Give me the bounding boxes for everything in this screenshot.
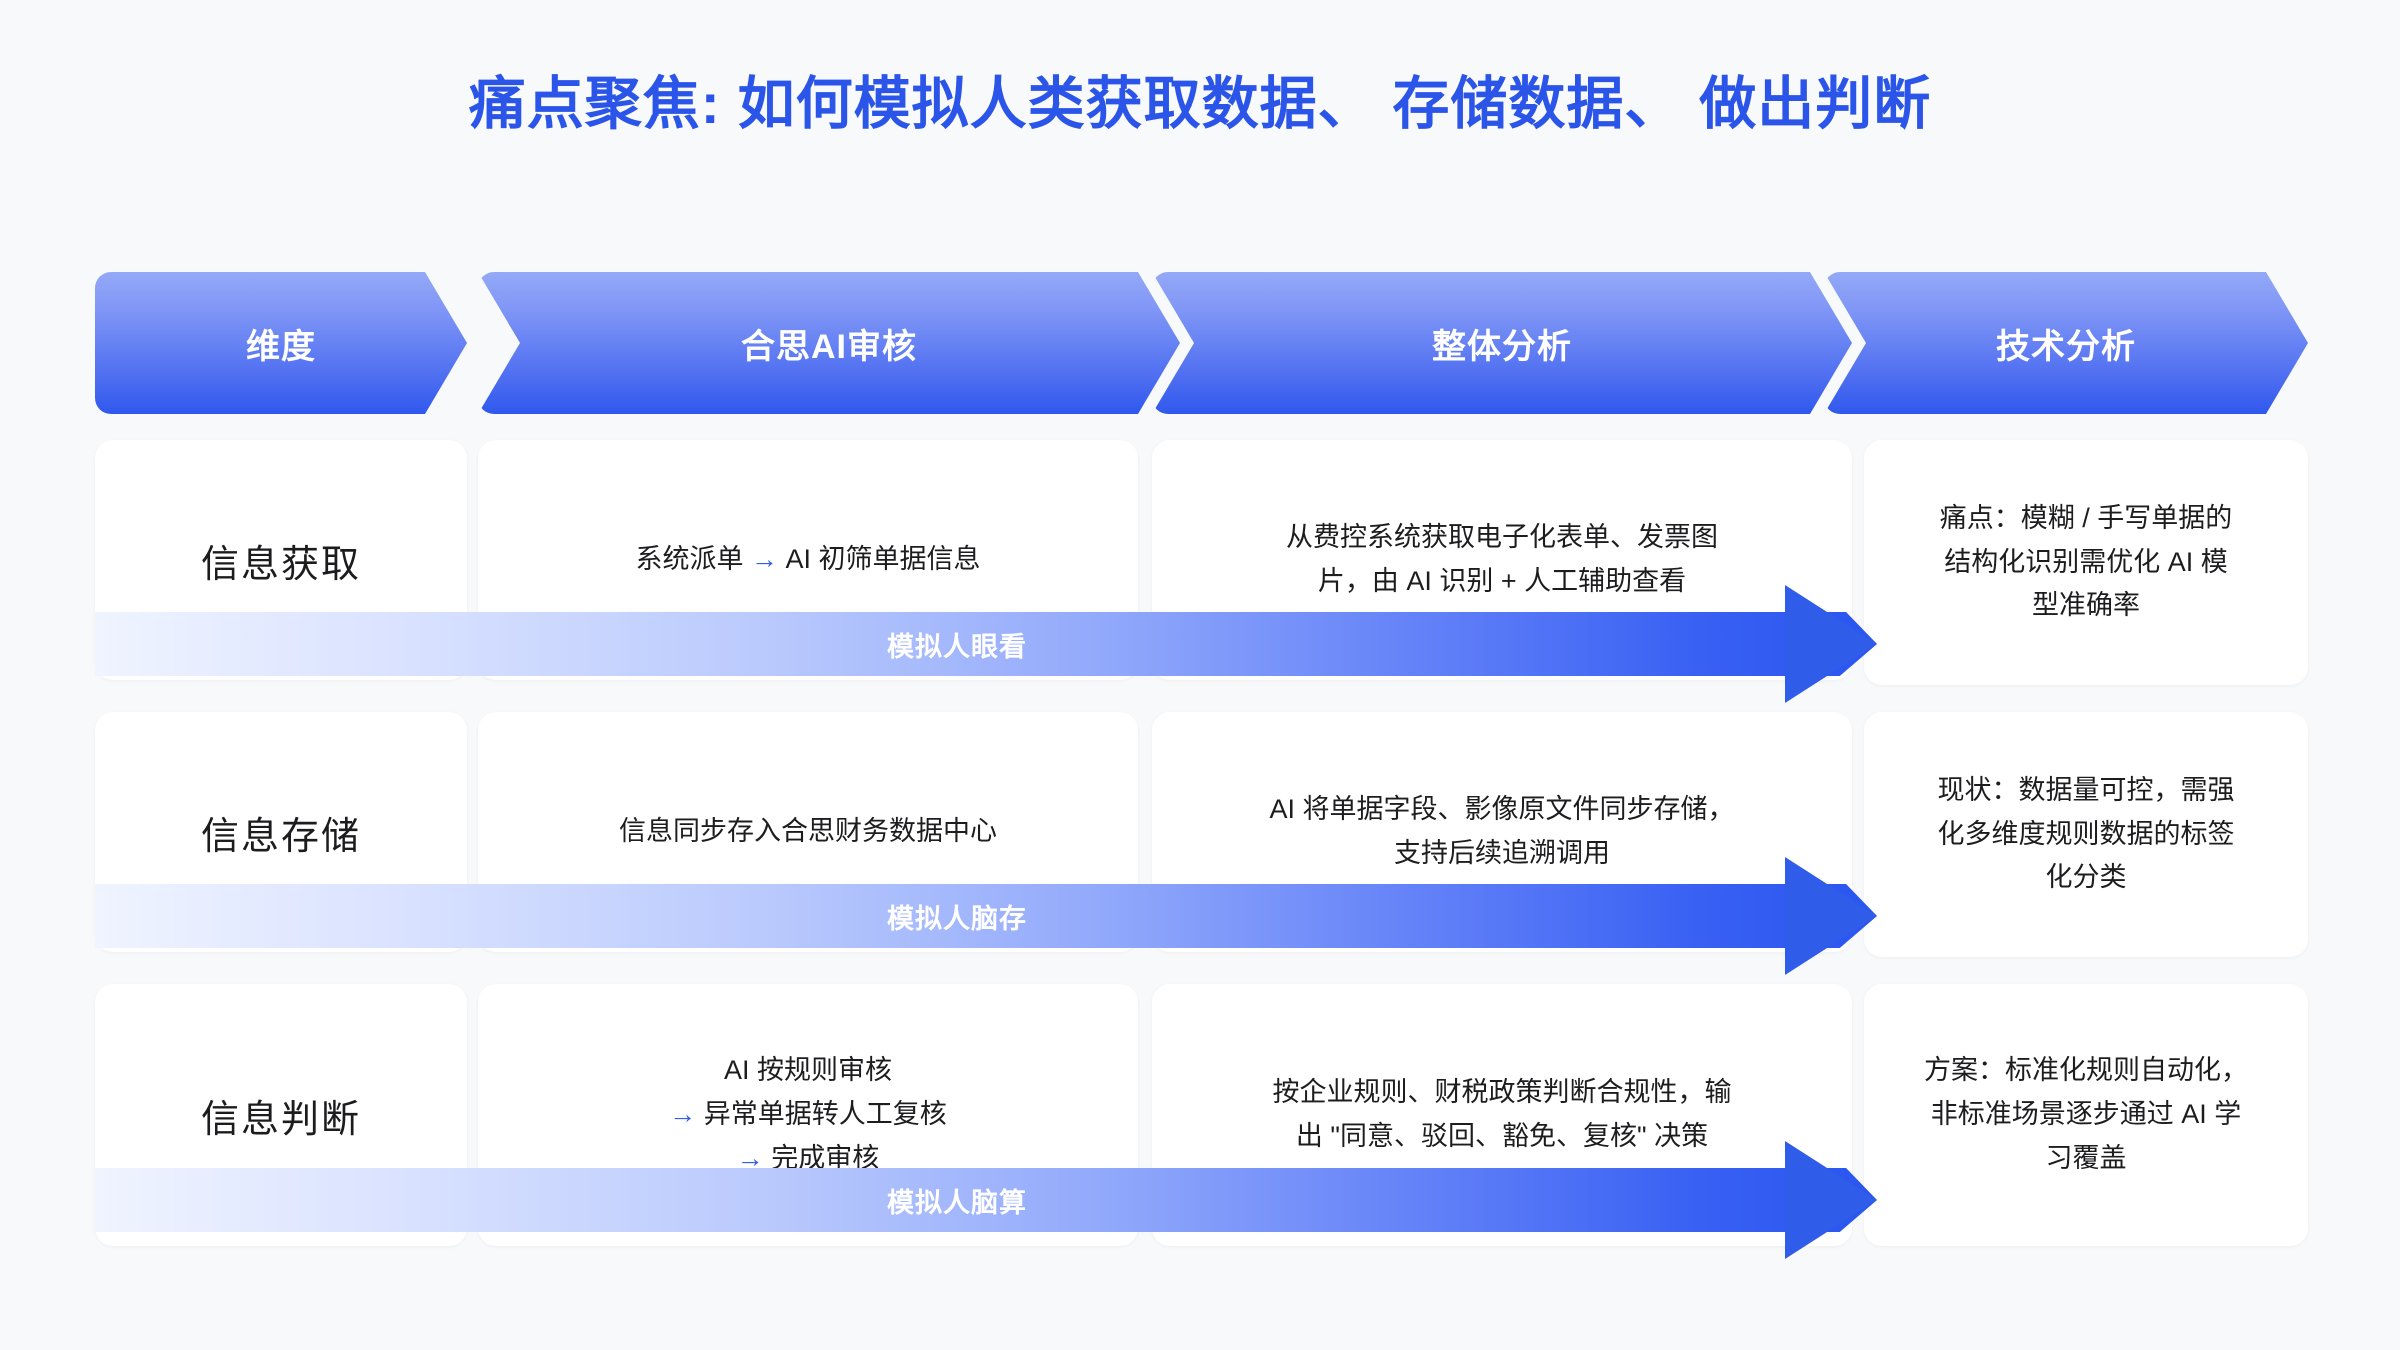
page-title: 痛点聚焦: 如何模拟人类获取数据、 存储数据、 做出判断 [0, 58, 2400, 140]
dimension-label-row1: 信息获取 [201, 533, 361, 588]
ai-review-text-row3: AI 按规则审核 → 异常单据转人工复核 → 完成审核 [643, 1049, 973, 1180]
ai-review-line-text: 异常单据转人工复核 [704, 1099, 947, 1129]
overall-text-row1: 从费控系统获取电子化表单、发票图 片，由 AI 识别 + 人工辅助查看 [1260, 516, 1744, 603]
technical-text-row2: 现状：数据量可控，需强 化多维度规则数据的标签 化分类 [1908, 769, 2265, 900]
technical-text-row3: 方案：标准化规则自动化， 非标准场景逐步通过 AI 学 习覆盖 [1894, 1049, 2278, 1180]
overall-line: 从费控系统获取电子化表单、发票图 [1286, 516, 1718, 560]
technical-cell-row1: 痛点：模糊 / 手写单据的 结构化识别需优化 AI 模 型准确率 [1864, 440, 2308, 685]
overall-text-row2: AI 将单据字段、影像原文件同步存储， 支持后续追溯调用 [1243, 788, 1760, 875]
ai-review-text-row1: 系统派单 → AI 初筛单据信息 [609, 538, 1006, 582]
technical-line: 痛点：模糊 / 手写单据的 [1940, 497, 2233, 541]
process-arrow-row1: 模拟人眼看 [95, 612, 1877, 676]
technical-line: 方案：标准化规则自动化， [1924, 1049, 2248, 1093]
header-label-dimension: 维度 [246, 319, 316, 368]
overall-line: 片，由 AI 识别 + 人工辅助查看 [1286, 560, 1718, 604]
technical-line: 非标准场景逐步通过 AI 学 [1924, 1093, 2248, 1137]
overall-line: 按企业规则、财税政策判断合规性，输 [1273, 1071, 1732, 1115]
ai-review-text-row2: 信息同步存入合思财务数据中心 [593, 810, 1023, 854]
overall-line: 出 "同意、驳回、豁免、复核" 决策 [1273, 1115, 1732, 1159]
overall-line: AI 将单据字段、影像原文件同步存储， [1269, 788, 1734, 832]
process-arrow-row3: 模拟人脑算 [95, 1168, 1877, 1232]
ai-review-line: 系统派单 → AI 初筛单据信息 [635, 538, 980, 582]
header-chevron-overall-analysis[interactable]: 整体分析 [1152, 272, 1852, 414]
header-label-overall-analysis: 整体分析 [1432, 319, 1572, 368]
overall-text-row3: 按企业规则、财税政策判断合规性，输 出 "同意、驳回、豁免、复核" 决策 [1247, 1071, 1758, 1158]
technical-line: 结构化识别需优化 AI 模 [1940, 541, 2233, 585]
process-arrow-label-row1: 模拟人眼看 [95, 625, 1819, 664]
ai-review-line: AI 按规则审核 [669, 1049, 947, 1093]
technical-line: 型准确率 [1940, 584, 2233, 628]
technical-line: 习覆盖 [1924, 1137, 2248, 1181]
header-chevron-ai-review[interactable]: 合思AI审核 [478, 272, 1180, 414]
dimension-label-row2: 信息存储 [201, 805, 361, 860]
process-arrow-label-row2: 模拟人脑存 [95, 897, 1819, 936]
header-label-ai-review: 合思AI审核 [741, 319, 917, 368]
technical-line: 化多维度规则数据的标签 [1938, 813, 2235, 857]
technical-line: 现状：数据量可控，需强 [1938, 769, 2235, 813]
process-arrow-label-row3: 模拟人脑算 [95, 1181, 1819, 1220]
ai-review-line: → 异常单据转人工复核 [669, 1093, 947, 1137]
slide-canvas: 痛点聚焦: 如何模拟人类获取数据、 存储数据、 做出判断 维度 合思AI审核 整… [0, 0, 2400, 1350]
arrow-glyph-icon: → [751, 544, 778, 574]
process-arrow-row2: 模拟人脑存 [95, 884, 1877, 948]
technical-line: 化分类 [1938, 856, 2235, 900]
header-chevron-dimension[interactable]: 维度 [95, 272, 467, 414]
technical-cell-row3: 方案：标准化规则自动化， 非标准场景逐步通过 AI 学 习覆盖 [1864, 984, 2308, 1246]
overall-line: 支持后续追溯调用 [1269, 832, 1734, 876]
technical-cell-row2: 现状：数据量可控，需强 化多维度规则数据的标签 化分类 [1864, 712, 2308, 957]
header-label-technical-analysis: 技术分析 [1996, 319, 2136, 368]
ai-review-line: 信息同步存入合思财务数据中心 [619, 810, 997, 854]
header-chevron-technical-analysis[interactable]: 技术分析 [1824, 272, 2308, 414]
technical-text-row1: 痛点：模糊 / 手写单据的 结构化识别需优化 AI 模 型准确率 [1910, 497, 2263, 628]
dimension-label-row3: 信息判断 [201, 1088, 361, 1143]
arrow-glyph-icon: → [669, 1099, 696, 1129]
